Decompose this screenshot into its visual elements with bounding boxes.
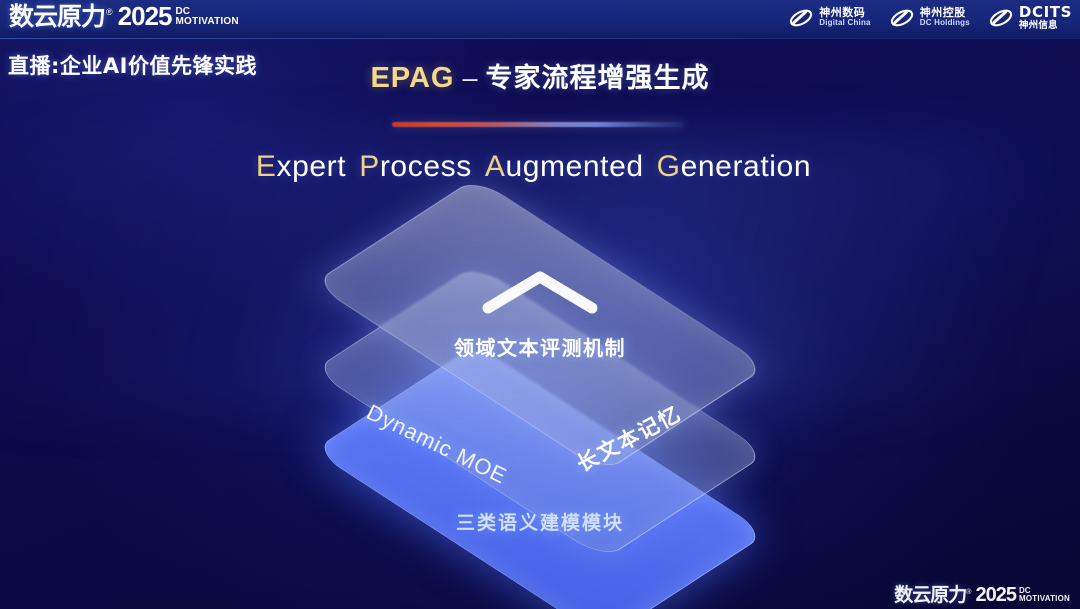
subtitle-word-generation: Generation xyxy=(657,150,811,183)
subtitle-rest: eneration xyxy=(681,150,812,183)
partner-name-en: Digital China xyxy=(819,19,871,28)
partner-logo-dc-holdings: 神州控股 DC Holdings xyxy=(889,7,970,29)
swoosh-logo-icon xyxy=(889,7,915,29)
slide-subtitle: ExpertProcessAugmentedGeneration xyxy=(0,150,1080,184)
partner-text: 神州数码 Digital China xyxy=(819,7,871,28)
partner-name-cn: DCITS xyxy=(1019,4,1072,21)
chevron-up-icon xyxy=(480,268,600,314)
watermark-motivation-text: MOTIVATION xyxy=(1019,595,1070,603)
partner-logo-group: 神州数码 Digital China 神州控股 DC Holdings DCIT… xyxy=(788,4,1072,31)
layer-label-top: 领域文本评测机制 xyxy=(0,332,1080,361)
swoosh-logo-icon xyxy=(788,7,814,29)
watermark-name-cn: 数云原力 xyxy=(894,586,966,605)
partner-text: DCITS 神州信息 xyxy=(1019,4,1072,31)
subtitle-rest: rocess xyxy=(380,150,472,183)
layer-label-bottom: 三类语义建模模块 xyxy=(0,508,1080,535)
partner-logo-dcits: DCITS 神州信息 xyxy=(988,4,1072,31)
title-chinese: 专家流程增强生成 xyxy=(486,63,710,94)
brand-year: 2025 xyxy=(118,3,172,29)
live-broadcast-label: 直播:企业AI价值先锋实践 xyxy=(8,50,257,80)
subtitle-rest: xpert xyxy=(277,150,347,183)
title-acronym: EPAG xyxy=(370,62,454,94)
subtitle-word-expert: Expert xyxy=(256,150,346,183)
partner-logo-digital-china: 神州数码 Digital China xyxy=(788,7,871,29)
gradient-divider xyxy=(392,122,684,127)
subtitle-cap: A xyxy=(485,150,506,183)
brand-dc-motivation: DC MOTIVATION xyxy=(176,7,239,27)
partner-name-en: DC Holdings xyxy=(920,19,970,28)
title-dash: – xyxy=(463,63,478,93)
watermark-year: 2025 xyxy=(975,585,1016,605)
subtitle-word-process: Process xyxy=(359,150,472,183)
partner-text: 神州控股 DC Holdings xyxy=(920,7,970,28)
watermark-registered-mark: ® xyxy=(966,589,971,596)
brand-motivation-text: MOTIVATION xyxy=(176,17,239,27)
subtitle-cap: P xyxy=(359,150,380,183)
brand-logo: 数云原力 ® 2025 DC MOTIVATION xyxy=(9,3,239,29)
subtitle-rest: ugmented xyxy=(505,150,643,183)
swoosh-logo-icon xyxy=(988,7,1014,29)
watermark-dc-motivation: DC MOTIVATION xyxy=(1019,587,1070,603)
watermark-logo: 数云原力 ® 2025 DC MOTIVATION xyxy=(894,585,1070,605)
brand-name-cn: 数云原力 xyxy=(9,4,105,29)
subtitle-cap: E xyxy=(256,150,277,183)
brand-registered-mark: ® xyxy=(106,7,113,17)
partner-name-en: 神州信息 xyxy=(1019,21,1072,32)
slide-canvas: 数云原力 ® 2025 DC MOTIVATION 直播:企业AI价值先锋实践 … xyxy=(0,0,1080,609)
subtitle-word-augmented: Augmented xyxy=(485,150,644,183)
subtitle-cap: G xyxy=(657,150,681,183)
